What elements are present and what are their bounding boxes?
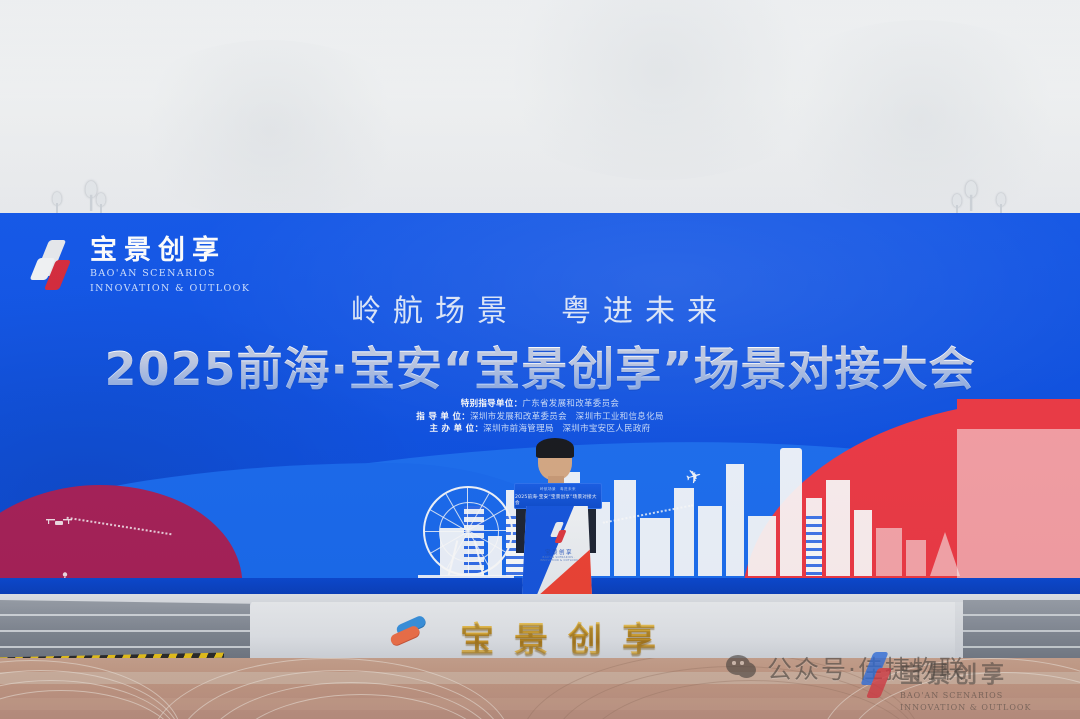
organizer-label: 指 导 单 位： xyxy=(416,412,470,422)
organizer-value: 广东省发展和改革委员会 xyxy=(522,399,619,409)
podium-logo-cn: 宝景创享 xyxy=(536,548,582,556)
wechat-icon xyxy=(726,654,758,682)
podium-sign-line2: 2025前海·宝安“宝景创享”场景对接大会 xyxy=(515,494,601,506)
organizer-label: 主 办 单 位： xyxy=(430,424,484,434)
watermark-logo-icon xyxy=(855,652,897,702)
event-subtitle: 岭航场景 粤进未来 xyxy=(0,286,1080,330)
organizer-value: 深圳市前海管理局 深圳市宝安区人民政府 xyxy=(483,424,650,434)
watermark-brand-en2: INNOVATION & OUTLOOK xyxy=(900,702,1031,713)
lamp-icon xyxy=(965,181,976,211)
organizer-block: 特别指导单位：广东省发展和改革委员会 指 导 单 位：深圳市发展和改革委员会 深… xyxy=(0,398,1080,436)
watermark-brand-cn: 宝景创享 xyxy=(900,655,1031,689)
brand-slash-icon xyxy=(30,238,78,292)
sky-background xyxy=(0,0,1080,214)
event-main-title: 2025前海·宝安“宝景创享”场景对接大会 xyxy=(0,333,1080,399)
screenshot-root: ✈ 宝景创享 BAO'AN SCENARIOS xyxy=(0,0,1080,719)
organizer-row: 主 办 单 位：深圳市前海管理局 深圳市宝安区人民政府 xyxy=(0,423,1080,436)
podium-logo-icon xyxy=(548,522,568,544)
logo-en-line1: BAO'AN SCENARIOS xyxy=(90,268,250,281)
organizer-row: 特别指导单位：广东省发展和改革委员会 xyxy=(0,398,1080,411)
podium-sign: 岭航场景 粤进未来 2025前海·宝安“宝景创享”场景对接大会 xyxy=(514,483,602,509)
podium-logo-en: BAO'AN SCENARIOS · INNOVATION & OUTLOOK xyxy=(534,556,584,562)
watermark-brand-en1: BAO'AN SCENARIOS xyxy=(900,690,1031,701)
podium-sign-line1: 岭航场景 粤进未来 xyxy=(540,487,576,492)
stage-front-logo-icon xyxy=(386,620,430,648)
lamp-icon xyxy=(85,181,96,211)
drone-icon xyxy=(46,516,72,530)
watermark-brand: 宝景创享 BAO'AN SCENARIOS INNOVATION & OUTLO… xyxy=(900,655,1031,713)
logo-cn: 宝景创享 xyxy=(90,235,250,266)
podium: 岭航场景 粤进未来 2025前海·宝安“宝景创享”场景对接大会 宝景创享 BAO… xyxy=(496,483,616,605)
stage-front-text: 宝景创享 xyxy=(460,612,760,661)
organizer-label: 特别指导单位： xyxy=(461,399,523,409)
podium-body: 宝景创享 BAO'AN SCENARIOS · INNOVATION & OUT… xyxy=(522,506,592,596)
organizer-value: 深圳市发展和改革委员会 深圳市工业和信息化局 xyxy=(470,412,664,422)
organizer-row: 指 导 单 位：深圳市发展和改革委员会 深圳市工业和信息化局 xyxy=(0,411,1080,424)
